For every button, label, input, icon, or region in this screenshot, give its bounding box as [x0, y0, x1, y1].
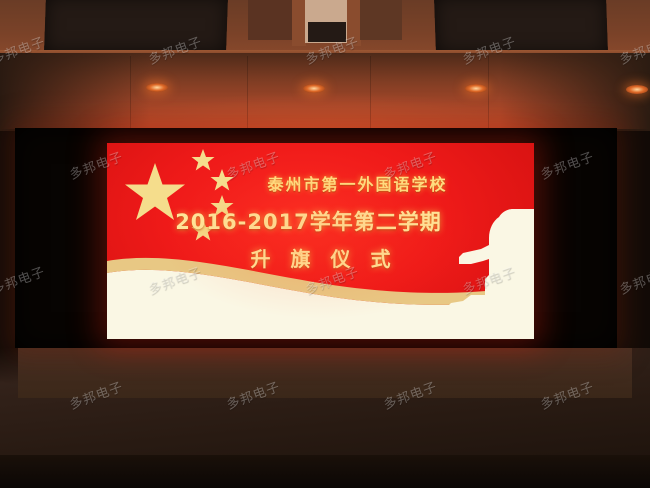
downlight-3	[465, 84, 487, 93]
auditorium-led-screen-photo: 泰州市第一外国语学校 2016-2017学年第二学期 升旗仪式 多邦电子多邦电子…	[0, 0, 650, 488]
ceiling-panel-right	[434, 0, 608, 54]
semester-line: 2016-2017学年第二学期	[107, 206, 534, 236]
downlight-2	[303, 84, 325, 93]
ceiling-beam-1	[292, 0, 306, 46]
lower-wall-shadow	[0, 455, 650, 488]
led-screen-display[interactable]: 泰州市第一外国语学校 2016-2017学年第二学期 升旗仪式	[107, 143, 534, 339]
lower-wall-panel	[18, 348, 632, 398]
downlight-1	[146, 83, 168, 92]
upper-wall-shadow-left	[0, 53, 150, 131]
wall-seam-2	[247, 56, 248, 128]
downlight-4	[626, 85, 648, 94]
ceiling-beam-2	[347, 0, 361, 46]
ceiling-panel-left	[44, 0, 228, 53]
watermark: 多邦电子	[616, 261, 650, 298]
ceiling-dark-opening	[308, 22, 346, 42]
wall-seam-1	[130, 56, 131, 128]
wall-seam-3	[370, 56, 371, 128]
wall-seam-4	[488, 56, 489, 128]
ceremony-title-line: 升旗仪式	[107, 243, 534, 272]
ceiling-slot-1	[248, 0, 292, 40]
led-text-block: 泰州市第一外国语学校 2016-2017学年第二学期 升旗仪式	[107, 171, 534, 272]
school-name-line: 泰州市第一外国语学校	[107, 171, 534, 195]
small-star-1	[192, 149, 215, 171]
ceiling-slot-3	[360, 0, 402, 40]
